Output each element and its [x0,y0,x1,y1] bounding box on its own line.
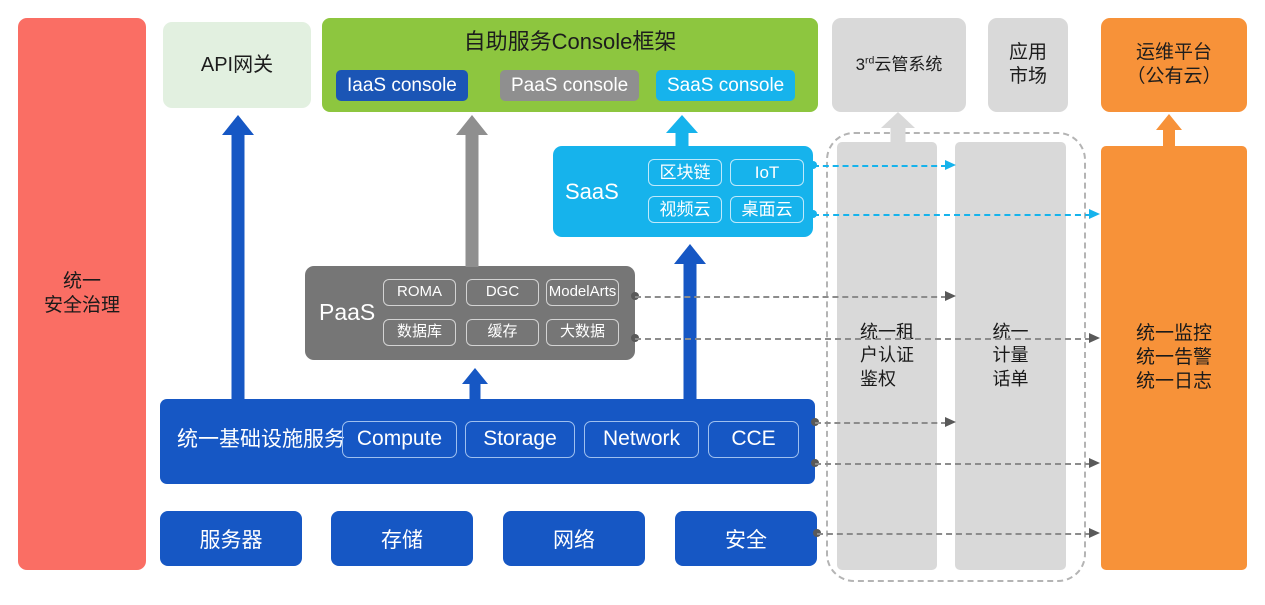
hardware-item-network: 网络 [503,511,645,566]
iaas-service-cce: CCE [708,421,799,458]
paas-layer-block: PaaS ROMA DGC ModelArts 数据库 缓存 大数据 [305,266,635,360]
iaas-to-auth-arrowhead [945,417,956,427]
app-market-block: 应用 市场 [988,18,1068,112]
paas-layer-label: PaaS [319,298,375,327]
billing-line-3: 话单 [993,368,1029,391]
iaas-bar-label: 统一基础设施服务 [177,427,345,453]
blue-up-arrow-iaas-to-paas [462,368,488,400]
api-gateway-block: API网关 [163,22,311,108]
blue-up-arrow-to-api-gateway [222,115,254,399]
iaas-service-network: Network [584,421,699,458]
hardware-item-server: 服务器 [160,511,302,566]
billing-line-2: 计量 [993,344,1029,367]
third-party-cloud-management-block: 3rd云管系统 [832,18,966,112]
iaas-to-ops-dashed-line [815,463,1091,465]
paas-to-ops-arrowhead [1089,333,1100,343]
paas-service-cache: 缓存 [466,319,539,346]
cyan-up-arrow-saas-to-console [666,115,698,148]
paas-console-chip: PaaS console [500,70,639,101]
paas-to-auth-dashed-line [635,296,947,298]
saas-service-iot: IoT [730,159,804,186]
orange-up-arrow-to-ops-platform [1156,114,1182,146]
auth-line-3: 鉴权 [860,368,914,391]
saas-service-video-cloud: 视频云 [648,196,722,223]
security-line-2: 安全治理 [44,294,120,318]
app-market-line-1: 应用 [1009,41,1047,65]
saas-to-auth-arrowhead [945,160,956,170]
iaas-to-auth-dashed-line [815,422,947,424]
hardware-item-storage: 存储 [331,511,473,566]
paas-service-database: 数据库 [383,319,456,346]
gray-up-arrow-to-third-cloud [882,112,914,142]
self-service-console-framework-block: 自助服务Console框架 IaaS console PaaS console … [322,18,818,112]
saas-layer-block: SaaS 区块链 IoT 视频云 桌面云 [553,146,813,237]
blue-up-arrow-iaas-to-saas [674,244,706,400]
unified-security-governance-block: 统一 安全治理 [18,18,146,570]
gray-up-arrow-paas-to-console [456,115,488,267]
ops-main-line-1: 统一监控 [1136,322,1212,346]
architecture-diagram: 统一 安全治理 API网关 自助服务Console框架 IaaS console… [0,0,1265,605]
saas-layer-label: SaaS [565,178,619,206]
iaas-console-chip: IaaS console [336,70,468,101]
paas-service-roma: ROMA [383,279,456,306]
third-cloud-prefix: 3 [856,55,865,74]
saas-service-blockchain: 区块链 [648,159,722,186]
iaas-service-storage: Storage [465,421,575,458]
auth-line-1: 统一租 [860,321,914,344]
ops-platform-capabilities-column: 统一监控 统一告警 统一日志 [1101,146,1247,570]
billing-line-1: 统一 [993,321,1029,344]
saas-to-ops-arrowhead [1089,209,1100,219]
console-framework-title: 自助服务Console框架 [322,28,818,56]
unified-tenant-auth-column: 统一租 户认证 鉴权 [837,142,937,570]
iaas-service-compute: Compute [342,421,457,458]
ops-main-line-3: 统一日志 [1136,370,1212,394]
auth-line-2: 户认证 [860,344,914,367]
api-gateway-label: API网关 [201,53,273,78]
paas-service-modelarts: ModelArts [546,279,619,306]
paas-to-ops-dashed-line [635,338,1091,340]
ops-top-line-2: （公有云） [1126,65,1221,89]
paas-service-dgc: DGC [466,279,539,306]
ops-top-line-1: 运维平台 [1126,41,1221,65]
paas-service-bigdata: 大数据 [546,319,619,346]
hardware-item-security: 安全 [675,511,817,566]
ops-platform-public-cloud-block: 运维平台 （公有云） [1101,18,1247,112]
hardware-to-ops-arrowhead [1089,528,1100,538]
iaas-to-ops-arrowhead [1089,458,1100,468]
saas-to-ops-dashed-line [813,214,1091,216]
app-market-line-2: 市场 [1009,65,1047,89]
hardware-to-ops-dashed-line [817,533,1091,535]
saas-to-auth-dashed-line [813,165,947,167]
unified-infrastructure-service-bar: 统一基础设施服务 Compute Storage Network CCE [160,399,815,484]
saas-console-chip: SaaS console [656,70,795,101]
saas-service-desktop-cloud: 桌面云 [730,196,804,223]
third-cloud-suffix: 云管系统 [874,55,942,74]
ops-main-line-2: 统一告警 [1136,346,1212,370]
security-line-1: 统一 [44,270,120,294]
unified-metering-billing-column: 统一 计量 话单 [955,142,1066,570]
paas-to-auth-arrowhead [945,291,956,301]
